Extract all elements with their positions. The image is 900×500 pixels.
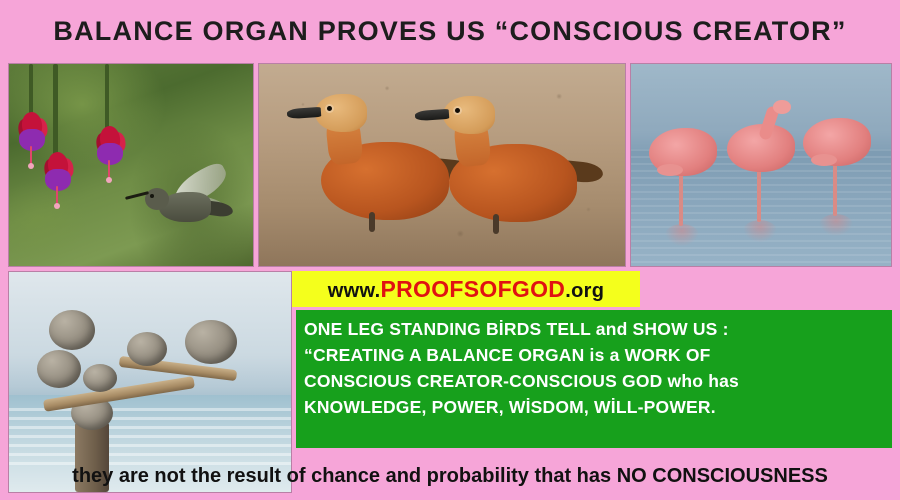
- url-domain: PROOFSOFGOD: [380, 276, 565, 302]
- website-url: www.PROOFSOFGOD.org: [328, 276, 604, 303]
- fuchsia-stem: [53, 64, 58, 160]
- flamingo-leg: [757, 170, 761, 222]
- bottom-caption: they are not the result of chance and pr…: [72, 465, 828, 488]
- flamingo-tucked-head: [657, 164, 683, 176]
- duck-leg: [369, 212, 375, 232]
- stone: [185, 320, 237, 364]
- flamingo-head: [773, 100, 791, 114]
- fuchsia-stamen: [56, 186, 58, 206]
- fuchsia-skirt: [19, 129, 45, 151]
- stone: [83, 364, 117, 392]
- stone-top-left: [49, 310, 95, 350]
- stone: [127, 332, 167, 366]
- flamingo-reflection: [743, 220, 777, 242]
- hummingbird: [137, 176, 233, 236]
- duck-eye: [327, 106, 332, 111]
- duck-head: [315, 94, 367, 132]
- hummingbird-eye: [150, 194, 154, 198]
- green-line-3: CONSCIOUS CREATOR-CONSCIOUS GOD who has: [304, 368, 884, 394]
- fuchsia-skirt: [45, 169, 71, 191]
- fuchsia-stamen: [30, 146, 32, 166]
- green-line-1: ONE LEG STANDING BİRDS TELL and SHOW US …: [304, 316, 884, 342]
- flamingo-leg: [833, 164, 837, 216]
- flamingo-tucked-head: [811, 154, 837, 166]
- two-ruddy-shelduck-ducks-photo: [258, 63, 626, 267]
- duck-leg: [493, 214, 499, 234]
- url-prefix: www.: [328, 280, 381, 302]
- flamingo-reflection: [665, 224, 699, 246]
- green-line-2: “CREATING A BALANCE ORGAN is a WORK OF: [304, 342, 884, 368]
- fuchsia-flower: [93, 126, 127, 184]
- flamingo-leg: [679, 174, 683, 226]
- duck-right: [431, 86, 601, 246]
- fuchsia-flower: [41, 152, 75, 210]
- green-message-block: ONE LEG STANDING BİRDS TELL and SHOW US …: [296, 310, 892, 448]
- fuchsia-stamen: [108, 160, 110, 180]
- page-title: BALANCE ORGAN PROVES US “CONSCIOUS CREAT…: [53, 16, 846, 47]
- flamingo: [793, 94, 883, 244]
- poster-root: BALANCE ORGAN PROVES US “CONSCIOUS CREAT…: [0, 0, 900, 500]
- hummingbird-feeding-fuchsia-photo: [8, 63, 254, 267]
- hummingbird-head: [145, 188, 169, 210]
- flamingos-standing-one-leg-photo: [630, 63, 892, 267]
- duck-head: [443, 96, 495, 134]
- stone: [37, 350, 81, 388]
- duck-eye: [455, 108, 460, 113]
- fuchsia-skirt: [97, 143, 123, 165]
- bottom-caption-bar: they are not the result of chance and pr…: [0, 452, 900, 500]
- flamingo-reflection: [819, 214, 853, 236]
- green-line-4: KNOWLEDGE, POWER, WİSDOM, WİLL-POWER.: [304, 394, 884, 420]
- url-suffix: .org: [565, 280, 604, 302]
- poster-title-bar: BALANCE ORGAN PROVES US “CONSCIOUS CREAT…: [0, 0, 900, 62]
- flamingo: [639, 104, 729, 254]
- website-url-band[interactable]: www.PROOFSOFGOD.org: [292, 271, 640, 307]
